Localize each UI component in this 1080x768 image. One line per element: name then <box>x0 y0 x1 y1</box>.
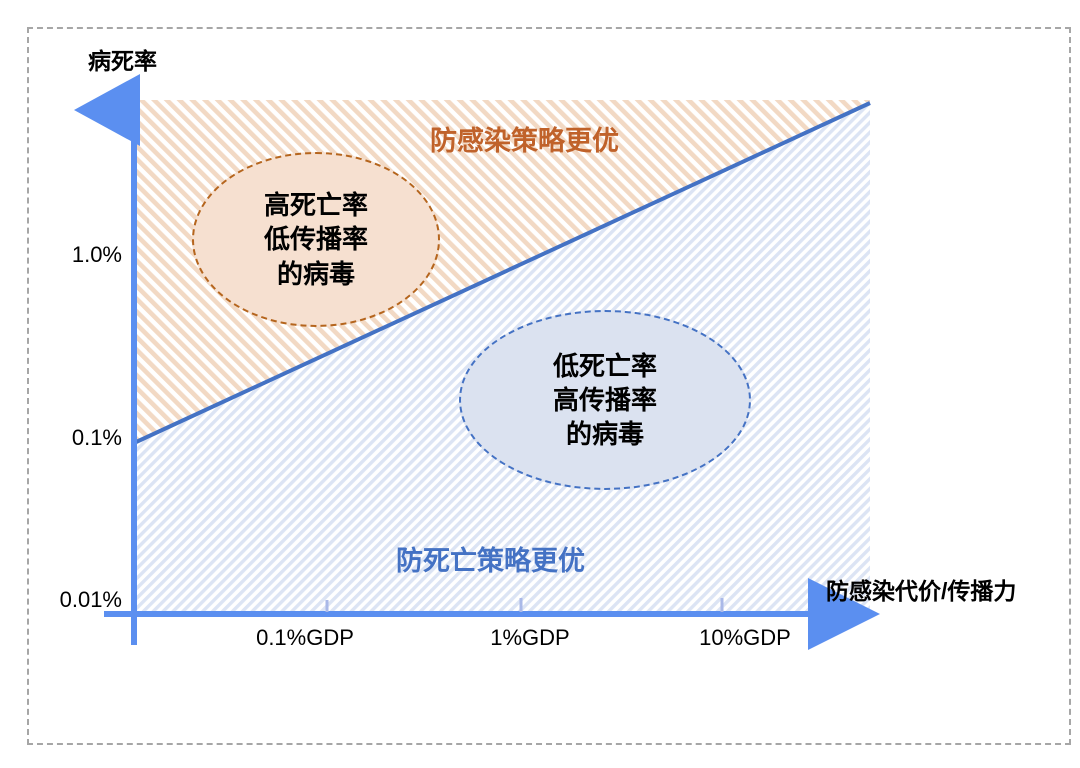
x-axis-tick-label-1: 0.1%GDP <box>225 625 385 651</box>
x-axis-tick-label-2: 1%GDP <box>450 625 610 651</box>
upper-region-label: 防感染策略更优 <box>430 119 619 158</box>
y-axis-title: 病死率 <box>88 42 157 76</box>
bubble-orange-line-1: 高死亡率 <box>264 188 368 222</box>
y-axis-tick-label-2: 0.1% <box>12 425 122 451</box>
bubble-orange-line-3: 的病毒 <box>277 257 355 291</box>
bubble-blue-line-3: 的病毒 <box>566 417 644 451</box>
bubble-orange-line-2: 低传播率 <box>264 222 368 256</box>
bubble-blue-line-2: 高传播率 <box>553 383 657 417</box>
x-axis-title: 防感染代价/传播力 <box>826 572 1016 606</box>
bubble-low-fatality-high-transmission: 低死亡率 高传播率 的病毒 <box>459 310 751 490</box>
bubble-high-fatality-low-transmission: 高死亡率 低传播率 的病毒 <box>192 152 440 327</box>
y-axis-tick-label-1: 1.0% <box>12 242 122 268</box>
x-axis-tick-label-3: 10%GDP <box>665 625 825 651</box>
bubble-blue-line-1: 低死亡率 <box>553 349 657 383</box>
lower-region-label: 防死亡策略更优 <box>396 539 585 578</box>
y-axis-tick-label-3: 0.01% <box>12 587 122 613</box>
